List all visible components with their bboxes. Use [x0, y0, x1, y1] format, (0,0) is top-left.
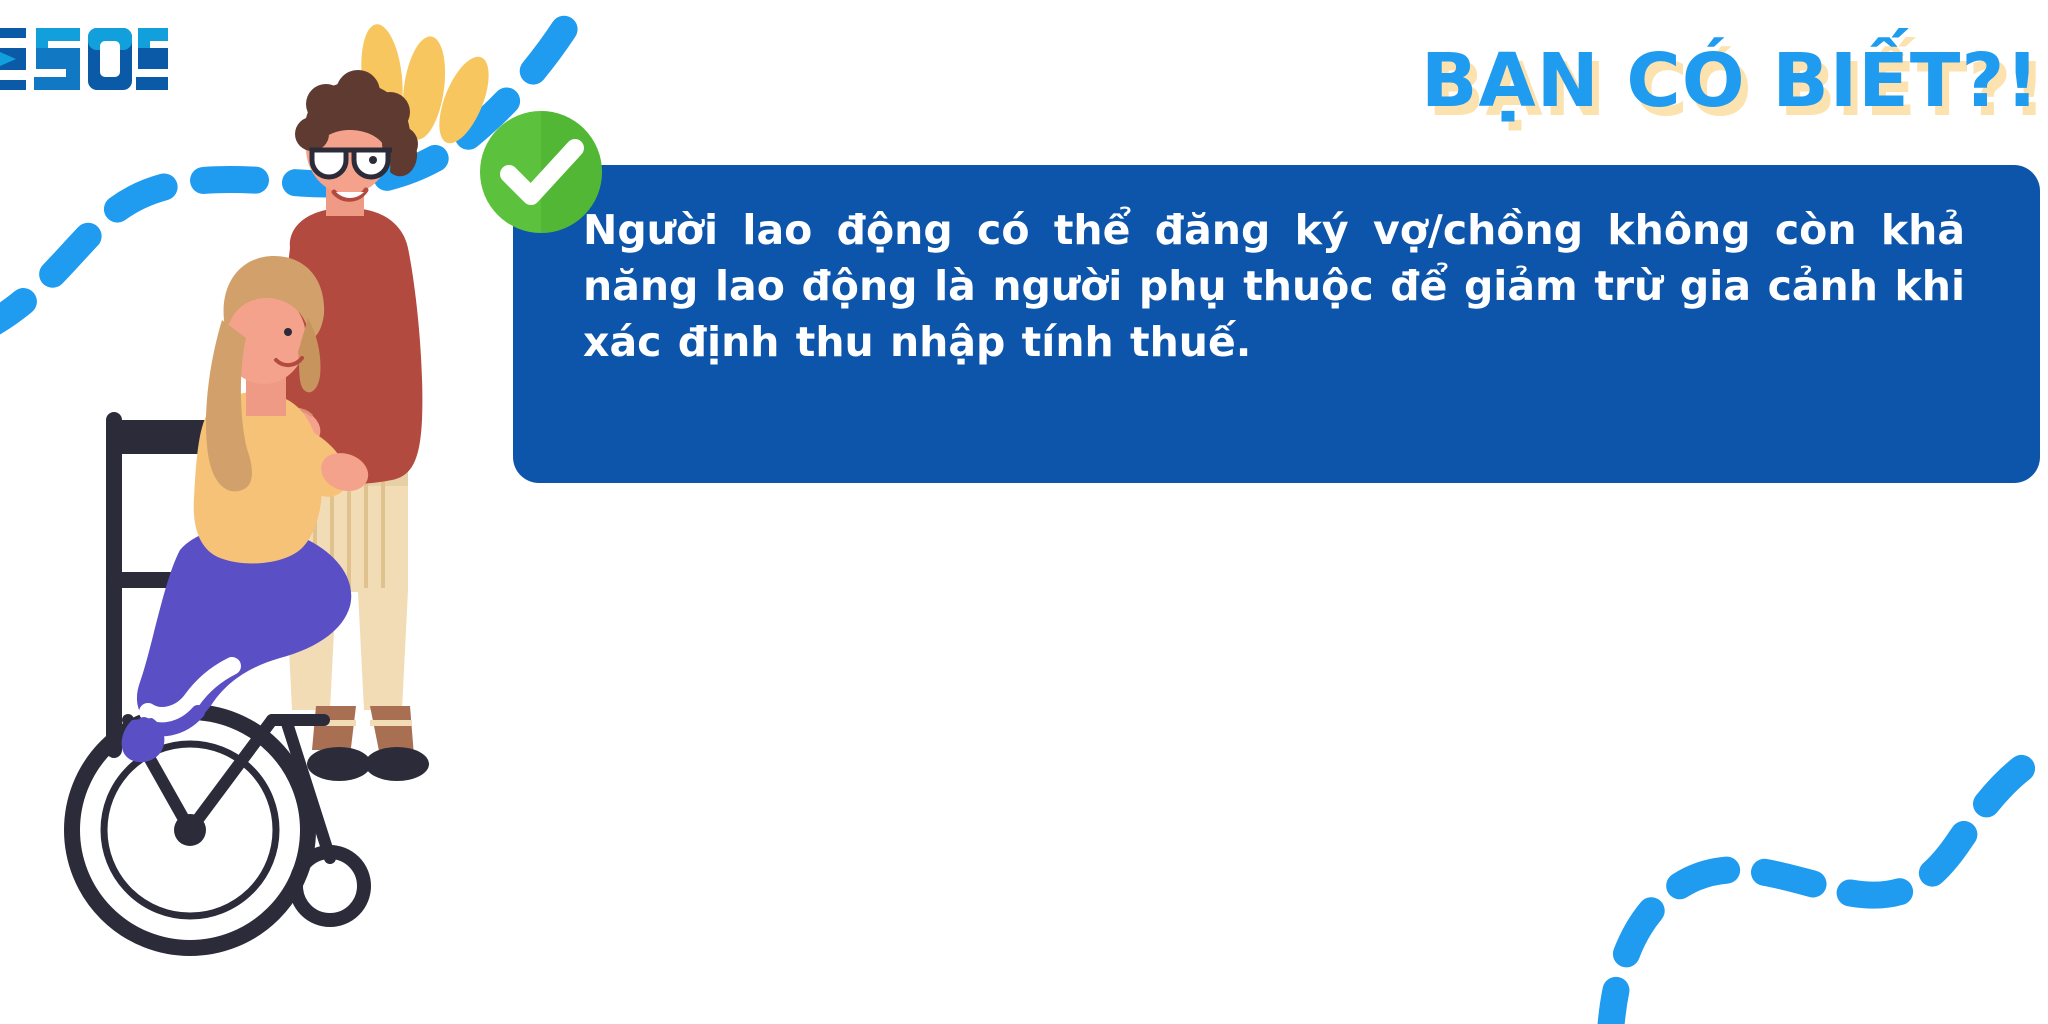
- bottom-right-dashed-wave: [1610, 752, 2048, 1024]
- info-card: Người lao động có thể đăng ký vợ/chồng k…: [513, 165, 2040, 483]
- standing-person-head: [295, 70, 418, 216]
- poster-canvas: BẠN CÓ BIẾT?! Người lao động có thể đăng…: [0, 0, 2048, 1024]
- info-card-body-text: Người lao động có thể đăng ký vợ/chồng k…: [583, 203, 1965, 370]
- wheelchair-couple-illustration: [40, 20, 510, 1024]
- page-title: BẠN CÓ BIẾT?!: [1421, 44, 2040, 118]
- standing-person-shoes: [307, 747, 429, 781]
- logo-letter-e: [0, 28, 26, 90]
